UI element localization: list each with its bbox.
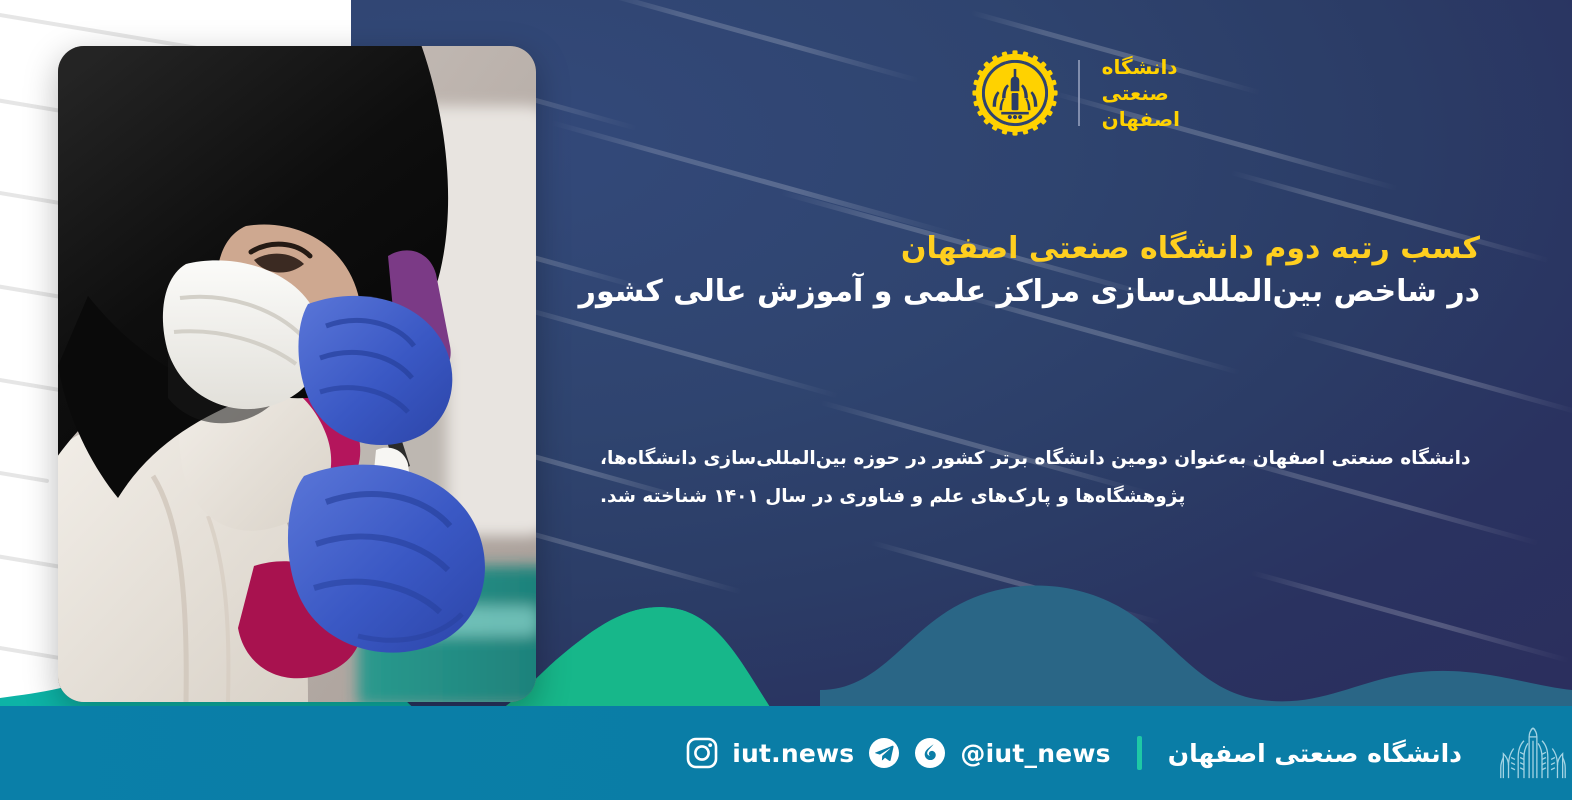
instagram-handle[interactable]: iut.news xyxy=(732,739,854,768)
telegram-icon[interactable] xyxy=(868,737,900,769)
body-paragraph: دانشگاه صنعتی اصفهان به‌عنوان دومین دانش… xyxy=(600,440,1480,516)
logo-word-sanati: صنعتی xyxy=(1102,82,1169,105)
logo-divider xyxy=(1078,60,1080,126)
diagonal-streak xyxy=(550,120,956,237)
footer-bar: iut.news @iut_news دانشگاه صنعتی اصفهان xyxy=(0,706,1572,800)
diagonal-streak xyxy=(1290,330,1572,415)
bale-icon[interactable] xyxy=(914,737,946,769)
footer-separator xyxy=(1137,736,1142,770)
university-logo: دانشگاه صنعتی اصفهان xyxy=(968,44,1180,142)
headline-block: کسب رتبه دوم دانشگاه صنعتی اصفهان در شاخ… xyxy=(600,228,1480,313)
footer-university-name: دانشگاه صنعتی اصفهان xyxy=(1168,739,1462,768)
iut-building-monument-icon xyxy=(1494,724,1572,782)
logo-word-esfahan: اصفهان xyxy=(1102,108,1180,131)
body-line-2: پژوهشگاه‌ها و پارک‌های علم و فناوری در س… xyxy=(600,478,1480,516)
iut-gear-seal-icon xyxy=(972,50,1058,136)
university-logo-wordmark: دانشگاه صنعتی اصفهان xyxy=(1084,56,1180,131)
banner-canvas: دانشگاه صنعتی اصفهان xyxy=(0,0,1572,800)
body-line-1: دانشگاه صنعتی اصفهان به‌عنوان دومین دانش… xyxy=(600,440,1480,478)
instagram-icon[interactable] xyxy=(686,737,718,769)
messaging-handle[interactable]: @iut_news xyxy=(960,739,1110,768)
lab-researcher-photo xyxy=(58,46,536,702)
headline-line-2: در شاخص بین‌المللی‌سازی مراکز علمی و آمو… xyxy=(600,271,1480,314)
paper-rule xyxy=(0,466,49,483)
diagonal-streak xyxy=(600,0,919,83)
logo-word-daneshgah: دانشگاه xyxy=(1102,56,1178,79)
diagonal-streak xyxy=(500,300,839,398)
headline-line-1: کسب رتبه دوم دانشگاه صنعتی اصفهان xyxy=(600,228,1480,271)
